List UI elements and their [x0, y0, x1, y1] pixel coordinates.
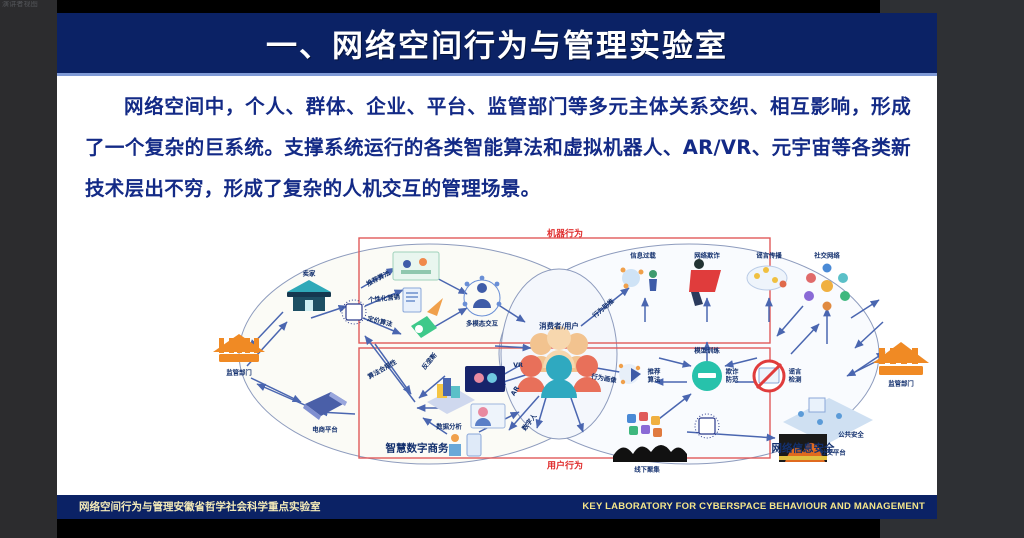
recommendation-algorithm-badge-label: 推荐 算法	[648, 368, 661, 385]
consumer-user-label: 消费者/用户	[539, 321, 579, 332]
smart-digital-commerce-label: 智慧数字商务	[386, 441, 449, 456]
rumor-spread-icon	[747, 266, 787, 290]
meeting-screen: 演讲者视图 正在共享屏幕 · 停止共享 姜元春 一、网络空间行为与管理实验室 网…	[0, 0, 1024, 538]
ecommerce-platform-label: 电商平台	[312, 425, 338, 434]
rumor-spread-label: 谣言传播	[756, 251, 782, 260]
social-network-label: 社交网络	[814, 251, 840, 260]
cyberspace-behavior-diagram: 机器行为 用户行为 智慧数字商务 网络信息安全 消费者/用户 卖家 监管部门 电…	[179, 226, 937, 476]
slide-title: 一、网络空间行为与管理实验室	[57, 21, 937, 66]
online-shopper-icon	[471, 404, 505, 428]
multimodal-interaction-label: 多模态交互	[466, 319, 498, 328]
regulator-right-label: 监管部门	[888, 379, 914, 388]
edge-model-training-label: 模型训练	[694, 346, 720, 355]
fraud-prevention-badge-icon	[692, 361, 722, 391]
rumor-detection-badge-label: 谣言 检测	[789, 368, 802, 385]
rumor-detection-badge-icon	[754, 361, 784, 391]
slide-footer-bar: 网络空间行为与管理安徽省哲学社会科学重点实验室 KEY LABORATORY F…	[57, 495, 937, 519]
footer-lab-name-cn: 网络空间行为与管理安徽省哲学社会科学重点实验室	[79, 495, 321, 519]
slide-title-bar: 一、网络空间行为与管理实验室	[57, 13, 937, 73]
shared-screen-letterbox-bottom	[57, 519, 1024, 538]
meeting-chrome-left	[0, 0, 57, 538]
social-platform-label: 社交平台	[820, 448, 846, 457]
public-safety-label: 公共安全	[838, 430, 864, 439]
meeting-view-label: 演讲者视图	[2, 1, 56, 17]
edge-vr-label: VR	[513, 361, 523, 369]
vr-device-icon	[465, 366, 505, 392]
machine-behavior-label: 机器行为	[547, 227, 583, 240]
title-underline	[57, 73, 937, 76]
shared-screen-letterbox-top	[57, 0, 937, 13]
regulator-left-label: 监管部门	[226, 368, 252, 377]
presentation-slide: 一、网络空间行为与管理实验室 网络空间中，个人、群体、企业、平台、监管部门等多元…	[57, 13, 937, 519]
seller-label: 卖家	[303, 269, 316, 278]
data-analysis-label: 数据分析	[436, 422, 462, 431]
slide-body-text: 网络空间中，个人、群体、企业、平台、监管部门等多元主体关系交织、相互影响，形成了…	[85, 86, 911, 209]
information-overload-label: 信息过载	[630, 251, 656, 260]
online-fraud-label: 网络欺诈	[694, 251, 720, 260]
fraud-prevention-badge-label: 欺诈 防范	[726, 368, 739, 385]
footer-lab-name-en: KEY LABORATORY FOR CYBERSPACE BEHAVIOUR …	[582, 495, 925, 519]
diagram-canvas	[179, 226, 937, 476]
regulator-right-icon	[873, 342, 929, 375]
user-behavior-label: 用户行为	[547, 459, 583, 472]
offline-gathering-label: 线下聚集	[634, 465, 660, 474]
